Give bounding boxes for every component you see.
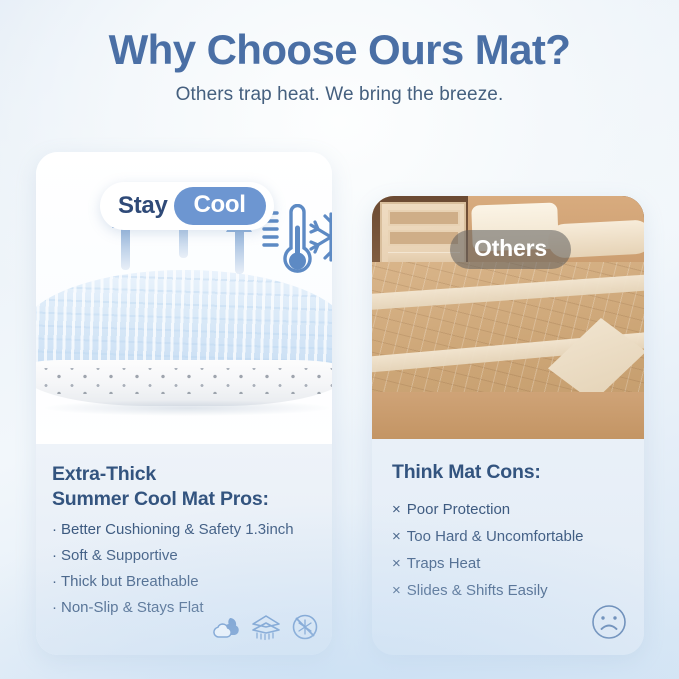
cloud-soft-icon [212,613,242,641]
cons-card: Others Think Mat Cons: ×Poor Protection … [372,196,644,655]
list-item-label: Non-Slip & Stays Flat [61,599,204,616]
pros-text-panel: Extra-Thick Summer Cool Mat Pros: ·Bette… [36,444,332,655]
list-item: ·Better Cushioning & Safety 1.3inch [52,522,332,548]
cross-marker: × [392,582,401,599]
stay-cool-badge: Stay Cool [100,182,274,230]
infographic-page: Why Choose Ours Mat? Others trap heat. W… [0,0,679,679]
list-item-label: Thick but Breathable [61,573,199,590]
list-item-label: Traps Heat [407,555,481,572]
bullet-marker: · [52,599,57,616]
page-subtitle: Others trap heat. We bring the breeze. [0,84,679,106]
others-badge: Others [450,230,571,269]
list-item-label: Too Hard & Uncomfortable [407,528,584,545]
pros-card: Stay Cool Extra-Thick Summer Cool Mat Pr… [36,152,332,655]
cross-marker: × [392,501,401,518]
badge-word-cool: Cool [174,187,266,225]
list-item: ·Thick but Breathable [52,574,332,600]
cons-text-panel: Think Mat Cons: ×Poor Protection ×Too Ha… [372,439,644,655]
others-mat-photo: Others [372,196,644,439]
pros-heading-line-2: Summer Cool Mat Pros: [52,488,269,510]
list-item: ×Too Hard & Uncomfortable [392,529,644,556]
others-badge-label: Others [474,235,547,261]
list-item-label: Poor Protection [407,501,510,518]
pros-list: ·Better Cushioning & Safety 1.3inch ·Sof… [36,522,332,626]
cooling-mat-image: Stay Cool [36,152,332,444]
bullet-marker: · [52,521,57,538]
badge-word-stay: Stay [118,192,168,220]
list-item-label: Slides & Shifts Easily [407,582,548,599]
list-item-label: Better Cushioning & Safety 1.3inch [61,521,294,538]
bed-base [372,392,644,439]
cons-list: ×Poor Protection ×Too Hard & Uncomfortab… [372,502,644,610]
header: Why Choose Ours Mat? Others trap heat. W… [0,28,679,106]
breathable-layers-icon [250,613,282,641]
list-item: ×Poor Protection [392,502,644,529]
list-item-label: Soft & Supportive [61,547,178,564]
pros-heading: Extra-Thick Summer Cool Mat Pros: [36,444,332,512]
anti-mite-icon [290,613,320,641]
cons-heading: Think Mat Cons: [372,439,644,484]
feature-icons [212,613,320,641]
mat-shadow [44,400,330,416]
cross-marker: × [392,555,401,572]
bullet-marker: · [52,547,57,564]
sad-face-icon [590,603,628,641]
cross-marker: × [392,528,401,545]
page-title: Why Choose Ours Mat? [0,28,679,72]
list-item: ·Soft & Supportive [52,548,332,574]
bullet-marker: · [52,573,57,590]
list-item: ×Traps Heat [392,556,644,583]
pros-heading-line-1: Extra-Thick [52,463,156,485]
